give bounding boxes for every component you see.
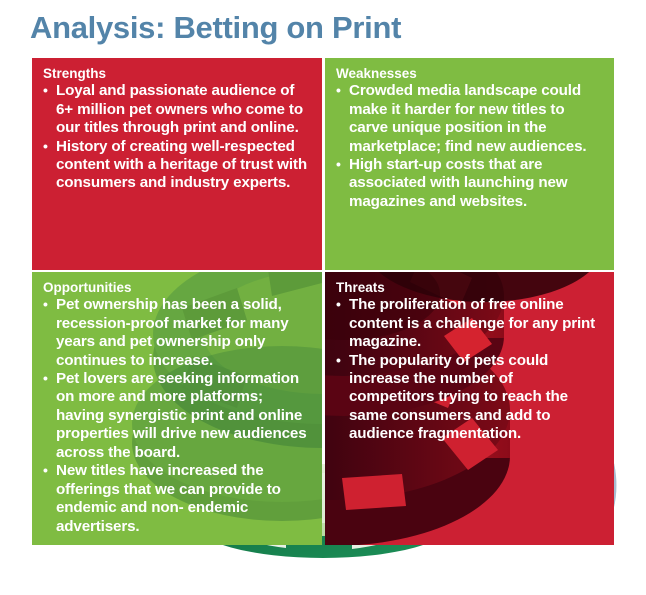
- quadrant-opportunities: Opportunities Pet ownership has been a s…: [32, 272, 322, 545]
- list-item: Crowded media landscape could make it ha…: [336, 82, 602, 156]
- quadrant-weaknesses-bullets: Crowded media landscape could make it ha…: [336, 82, 602, 211]
- list-item: History of creating well-respected conte…: [43, 138, 310, 193]
- page-title: Analysis: Betting on Print: [30, 10, 401, 46]
- quadrant-opportunities-heading: Opportunities: [43, 280, 310, 295]
- list-item: The popularity of pets could increase th…: [336, 352, 602, 444]
- swot-grid: Strengths Loyal and passionate audience …: [32, 58, 614, 545]
- list-item: Pet lovers are seeking information on mo…: [43, 370, 310, 462]
- list-item: Loyal and passionate audience of 6+ mill…: [43, 82, 310, 137]
- list-item: Pet ownership has been a solid, recessio…: [43, 296, 310, 370]
- quadrant-weaknesses: Weaknesses Crowded media landscape could…: [325, 58, 614, 270]
- quadrant-strengths: Strengths Loyal and passionate audience …: [32, 58, 322, 270]
- quadrant-opportunities-bullets: Pet ownership has been a solid, recessio…: [43, 296, 310, 536]
- quadrant-weaknesses-heading: Weaknesses: [336, 66, 602, 81]
- quadrant-strengths-bullets: Loyal and passionate audience of 6+ mill…: [43, 82, 310, 193]
- quadrant-threats-heading: Threats: [336, 280, 602, 295]
- list-item: The proliferation of free online content…: [336, 296, 602, 351]
- list-item: New titles have increased the offerings …: [43, 462, 310, 536]
- list-item: High start-up costs that are associated …: [336, 156, 602, 211]
- quadrant-strengths-heading: Strengths: [43, 66, 310, 81]
- quadrant-threats: Threats The proliferation of free online…: [325, 272, 614, 545]
- quadrant-threats-bullets: The proliferation of free online content…: [336, 296, 602, 444]
- swot-analysis-page: Analysis: Betting on Print: [0, 0, 646, 595]
